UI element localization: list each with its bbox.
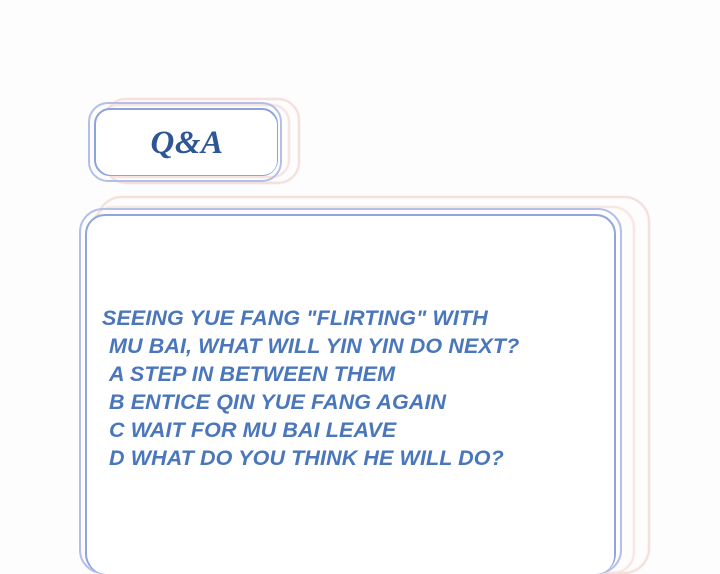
question-prompt-line-2: MU BAI, WHAT WILL YIN YIN DO NEXT? (102, 332, 612, 360)
qa-badge: Q&A (88, 94, 303, 186)
question-panel: SEEING YUE FANG "FLIRTING" WITH MU BAI, … (74, 194, 634, 574)
question-text-block: SEEING YUE FANG "FLIRTING" WITH MU BAI, … (102, 304, 612, 472)
answer-option-d[interactable]: D WHAT DO YOU THINK HE WILL DO? (102, 444, 612, 472)
qa-badge-label: Q&A (96, 110, 278, 176)
answer-option-b[interactable]: B ENTICE QIN YUE FANG AGAIN (102, 388, 612, 416)
answer-option-a[interactable]: A STEP IN BETWEEN THEM (102, 360, 612, 388)
answer-option-c[interactable]: C WAIT FOR MU BAI LEAVE (102, 416, 612, 444)
page-canvas: Q&A SEEING YUE FANG "FLIRTING" WITH MU B… (0, 0, 720, 563)
question-prompt-line-1: SEEING YUE FANG "FLIRTING" WITH (102, 304, 612, 332)
